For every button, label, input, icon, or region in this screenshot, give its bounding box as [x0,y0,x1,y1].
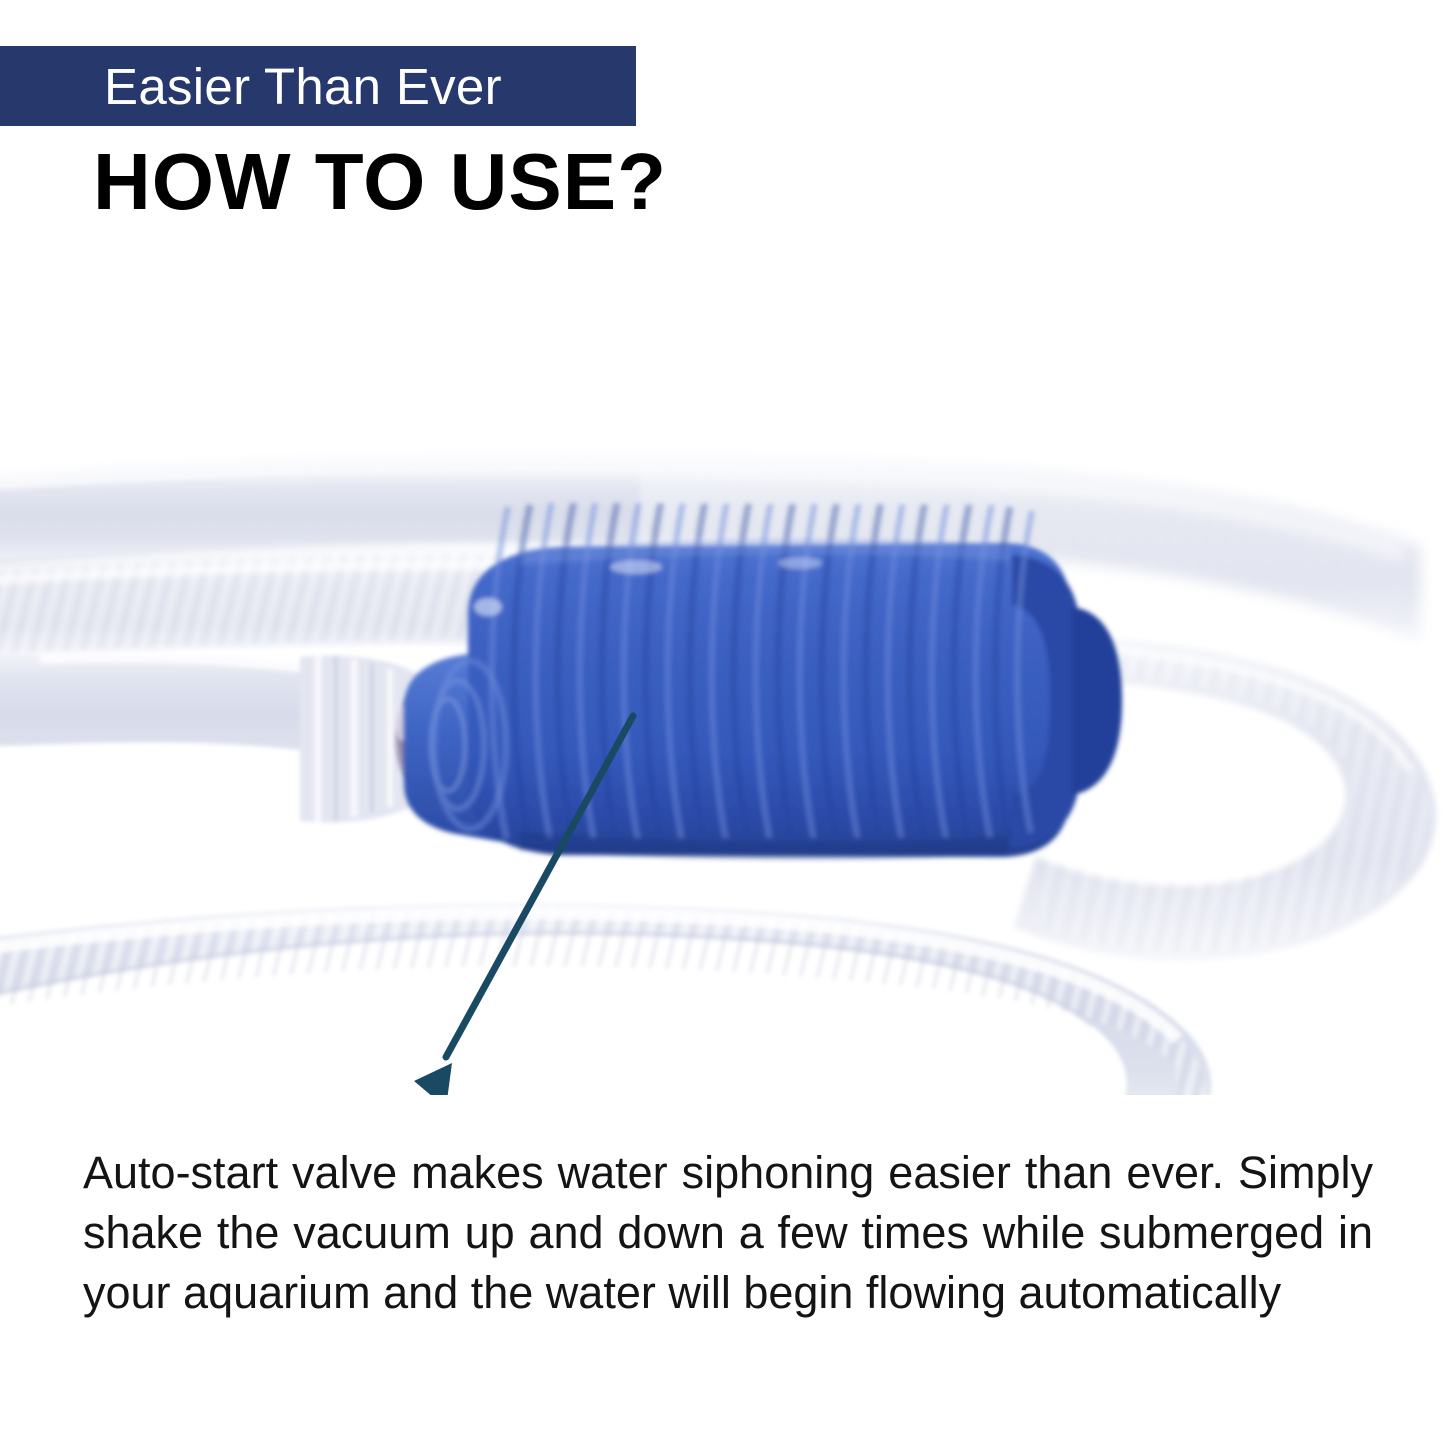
product-photo-illustration [0,255,1445,1095]
caption-copy: Auto-start valve makes water siphoning e… [83,1147,1373,1318]
eyebrow-banner: Easier Than Ever [0,46,636,126]
eyebrow-label: Easier Than Ever [0,61,502,112]
product-infographic-page: Easier Than Ever HOW TO USE? [0,0,1445,1445]
product-photo [0,255,1445,1095]
caption-text: Auto-start valve makes water siphoning e… [83,1143,1373,1323]
page-title: HOW TO USE? [93,140,667,224]
